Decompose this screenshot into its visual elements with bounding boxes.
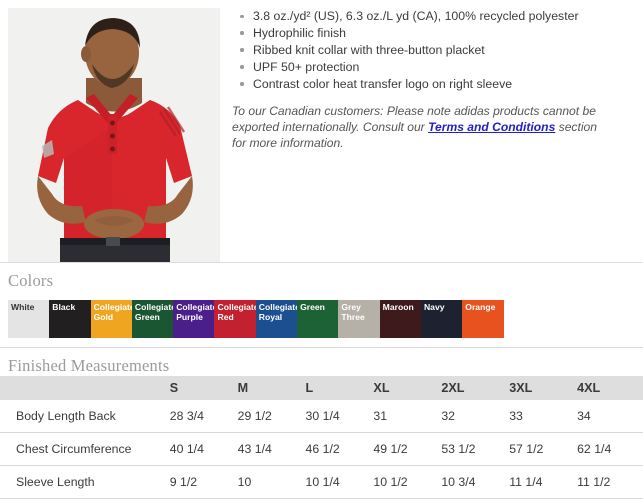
col-header-s: S bbox=[170, 376, 238, 400]
swatch-label: Grey Three bbox=[341, 302, 379, 322]
bullet-dot-icon bbox=[240, 48, 244, 52]
color-swatch-black[interactable]: Black bbox=[49, 300, 90, 338]
cell-4xl: 34 bbox=[577, 400, 643, 433]
cell-3xl: 33 bbox=[509, 400, 577, 433]
cell-m: 29 1/2 bbox=[238, 400, 306, 433]
finished-measurements-section: Finished Measurements S M L XL 2XL 3XL 4… bbox=[0, 347, 643, 499]
product-photo-illustration bbox=[8, 8, 220, 262]
color-swatch-collegiate-red[interactable]: Collegiate Red bbox=[214, 300, 255, 338]
table-header-row: S M L XL 2XL 3XL 4XL bbox=[0, 376, 643, 400]
swatch-label: Collegiate Royal bbox=[259, 302, 297, 322]
spec-item: Hydrophilic finish bbox=[232, 25, 637, 41]
cell-4xl: 11 1/2 bbox=[577, 466, 643, 499]
col-header-measurement bbox=[0, 376, 170, 400]
table-row: Sleeve Length 9 1/2 10 10 1/4 10 1/2 10 … bbox=[0, 466, 643, 499]
swatch-label: Maroon bbox=[383, 302, 421, 312]
measurements-table: S M L XL 2XL 3XL 4XL Body Length Back 28… bbox=[0, 376, 643, 499]
swatch-label: Collegiate Green bbox=[135, 302, 173, 322]
bullet-dot-icon bbox=[240, 15, 244, 19]
spec-item: Contrast color heat transfer logo on rig… bbox=[232, 76, 637, 92]
swatch-label: Black bbox=[52, 302, 90, 312]
cell-2xl: 32 bbox=[441, 400, 509, 433]
color-swatch-row: White Black Collegiate Gold Collegiate G… bbox=[8, 300, 545, 338]
color-swatch-maroon[interactable]: Maroon bbox=[380, 300, 421, 338]
cell-2xl: 53 1/2 bbox=[441, 433, 509, 466]
color-swatch-collegiate-green[interactable]: Collegiate Green bbox=[132, 300, 173, 338]
row-label: Body Length Back bbox=[0, 400, 170, 433]
cell-s: 9 1/2 bbox=[170, 466, 238, 499]
terms-and-conditions-link[interactable]: Terms and Conditions bbox=[428, 120, 555, 134]
col-header-l: L bbox=[306, 376, 374, 400]
spec-item-text: Hydrophilic finish bbox=[253, 26, 346, 40]
cell-l: 30 1/4 bbox=[306, 400, 374, 433]
product-overview: 3.8 oz./yd² (US), 6.3 oz./L yd (CA), 100… bbox=[0, 0, 643, 262]
spec-bullet-list: 3.8 oz./yd² (US), 6.3 oz./L yd (CA), 100… bbox=[232, 8, 637, 92]
color-swatch-collegiate-royal[interactable]: Collegiate Royal bbox=[256, 300, 297, 338]
col-header-4xl: 4XL bbox=[577, 376, 643, 400]
cell-3xl: 57 1/2 bbox=[509, 433, 577, 466]
cell-3xl: 11 1/4 bbox=[509, 466, 577, 499]
table-row: Body Length Back 28 3/4 29 1/2 30 1/4 31… bbox=[0, 400, 643, 433]
color-swatch-navy[interactable]: Navy bbox=[421, 300, 462, 338]
specification-panel: 3.8 oz./yd² (US), 6.3 oz./L yd (CA), 100… bbox=[232, 8, 637, 164]
cell-xl: 31 bbox=[373, 400, 441, 433]
bullet-dot-icon bbox=[240, 82, 244, 86]
swatch-label: Collegiate Red bbox=[217, 302, 255, 322]
bullet-dot-icon bbox=[240, 31, 244, 35]
product-image[interactable] bbox=[8, 8, 220, 262]
cell-4xl: 62 1/4 bbox=[577, 433, 643, 466]
col-header-m: M bbox=[238, 376, 306, 400]
spec-item-text: UPF 50+ protection bbox=[253, 60, 359, 74]
color-swatch-collegiate-purple[interactable]: Collegiate Purple bbox=[173, 300, 214, 338]
cell-xl: 10 1/2 bbox=[373, 466, 441, 499]
spec-item-text: Ribbed knit collar with three-button pla… bbox=[253, 43, 485, 57]
col-header-2xl: 2XL bbox=[441, 376, 509, 400]
color-swatch-orange[interactable]: Orange bbox=[462, 300, 503, 338]
cell-l: 46 1/2 bbox=[306, 433, 374, 466]
cell-s: 28 3/4 bbox=[170, 400, 238, 433]
cell-m: 43 1/4 bbox=[238, 433, 306, 466]
swatch-label: Collegiate Purple bbox=[176, 302, 214, 322]
finished-measurements-heading: Finished Measurements bbox=[0, 348, 643, 376]
spec-item: 3.8 oz./yd² (US), 6.3 oz./L yd (CA), 100… bbox=[232, 8, 637, 24]
canadian-customers-note: To our Canadian customers: Please note a… bbox=[232, 103, 598, 152]
swatch-label: White bbox=[11, 302, 49, 312]
spec-item-text: Contrast color heat transfer logo on rig… bbox=[253, 77, 512, 91]
color-swatch-green[interactable]: Green bbox=[297, 300, 338, 338]
cell-xl: 49 1/2 bbox=[373, 433, 441, 466]
cell-l: 10 1/4 bbox=[306, 466, 374, 499]
color-swatch-white[interactable]: White bbox=[8, 300, 49, 338]
spec-item: Ribbed knit collar with three-button pla… bbox=[232, 42, 637, 58]
measurements-table-body: Body Length Back 28 3/4 29 1/2 30 1/4 31… bbox=[0, 400, 643, 499]
color-swatch-grey-three[interactable]: Grey Three bbox=[338, 300, 379, 338]
measurements-table-head: S M L XL 2XL 3XL 4XL bbox=[0, 376, 643, 400]
colors-heading: Colors bbox=[0, 263, 643, 291]
spec-item-text: 3.8 oz./yd² (US), 6.3 oz./L yd (CA), 100… bbox=[253, 9, 579, 23]
cell-m: 10 bbox=[238, 466, 306, 499]
cell-2xl: 10 3/4 bbox=[441, 466, 509, 499]
swatch-label: Orange bbox=[465, 302, 503, 312]
swatch-label: Green bbox=[300, 302, 338, 312]
table-row: Chest Circumference 40 1/4 43 1/4 46 1/2… bbox=[0, 433, 643, 466]
swatch-label: Collegiate Gold bbox=[94, 302, 132, 322]
color-swatch-collegiate-gold[interactable]: Collegiate Gold bbox=[91, 300, 132, 338]
swatch-label: Navy bbox=[424, 302, 462, 312]
bullet-dot-icon bbox=[240, 65, 244, 69]
col-header-xl: XL bbox=[373, 376, 441, 400]
row-label: Chest Circumference bbox=[0, 433, 170, 466]
spec-item: UPF 50+ protection bbox=[232, 59, 637, 75]
col-header-3xl: 3XL bbox=[509, 376, 577, 400]
cell-s: 40 1/4 bbox=[170, 433, 238, 466]
row-label: Sleeve Length bbox=[0, 466, 170, 499]
